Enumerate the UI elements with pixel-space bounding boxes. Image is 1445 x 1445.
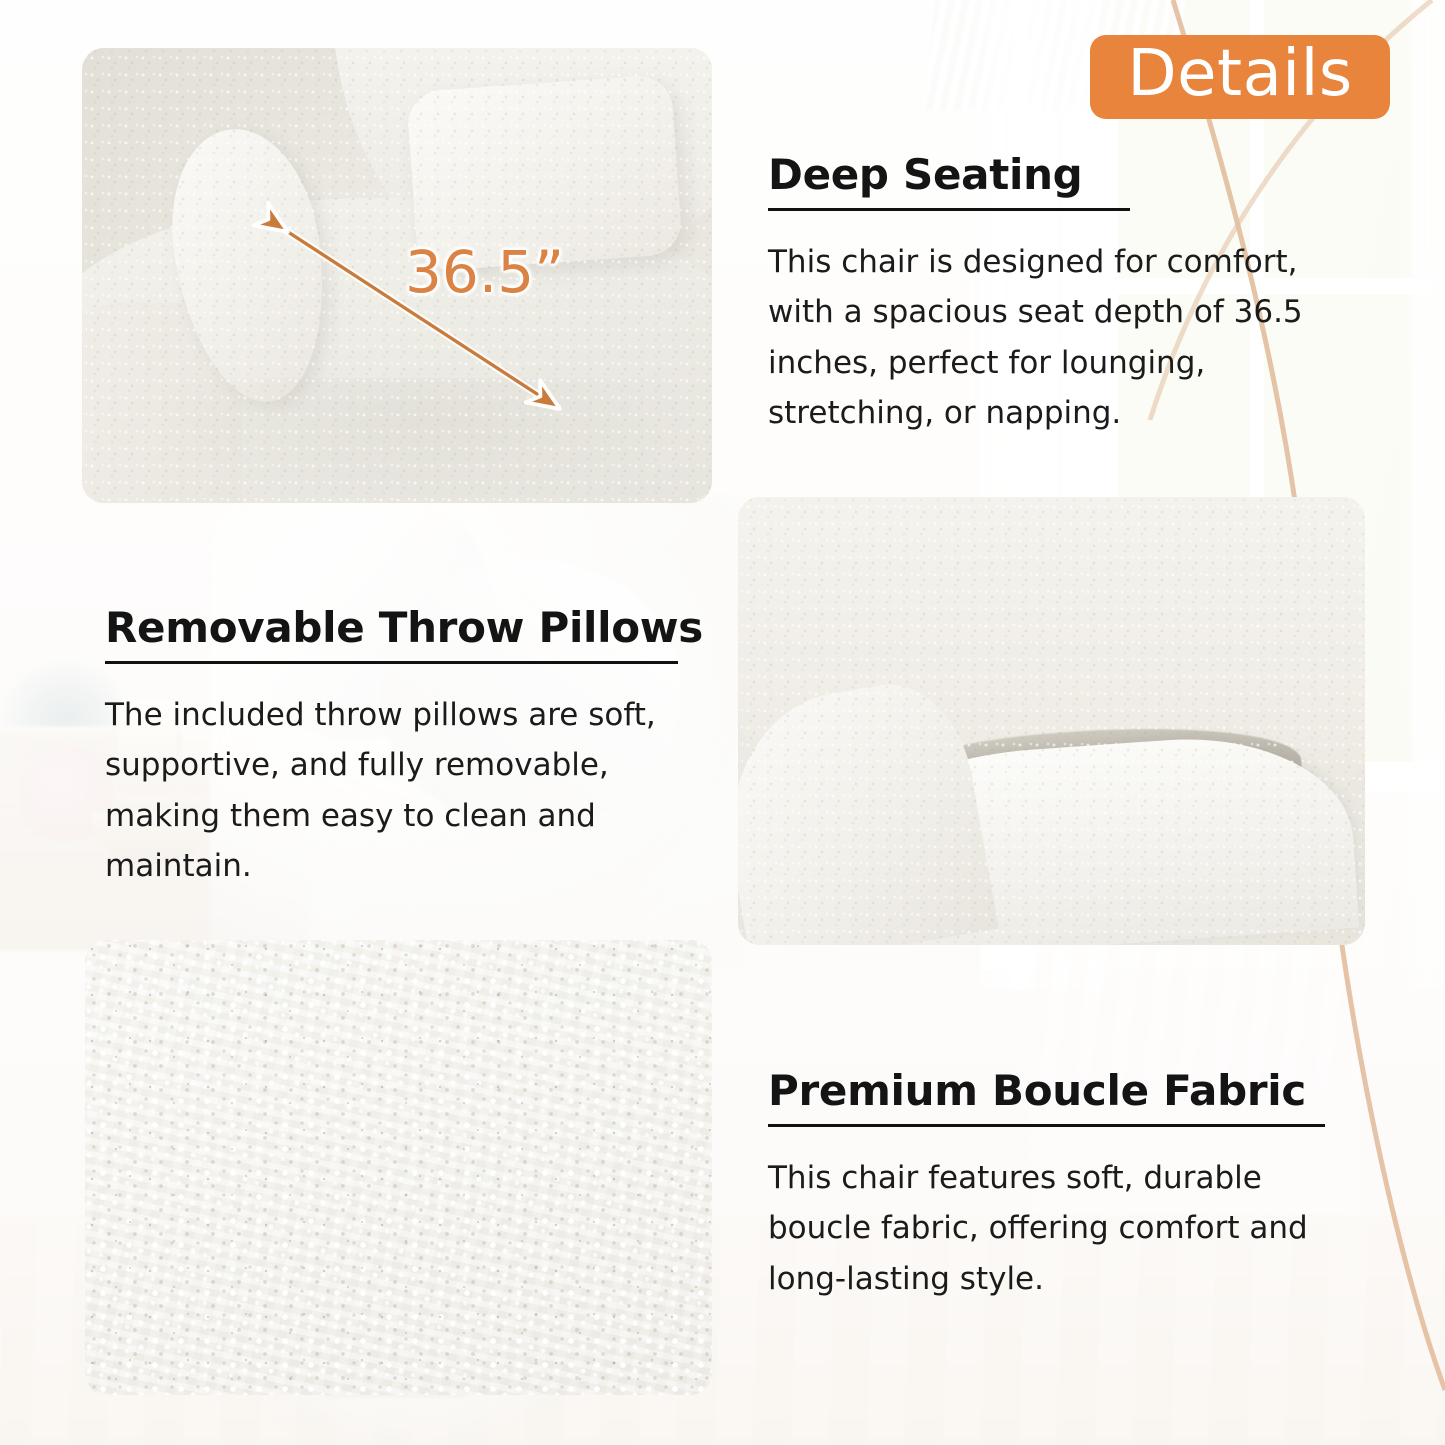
heading-rule: [768, 208, 1130, 211]
feature-heading-deep-seating: Deep Seating: [768, 152, 1368, 198]
zipper-photo: [738, 497, 1365, 945]
feature-premium-boucle-fabric: Premium Boucle Fabric This chair feature…: [768, 1068, 1343, 1304]
feature-heading-removable-throw-pillows: Removable Throw Pillows: [105, 605, 685, 651]
details-badge: Details: [1090, 35, 1390, 119]
feature-body-premium-boucle-fabric: This chair features soft, durable boucle…: [768, 1153, 1328, 1304]
feature-heading-premium-boucle-fabric: Premium Boucle Fabric: [768, 1068, 1343, 1114]
details-infographic-page: Details 36.5”: [0, 0, 1445, 1445]
details-badge-label: Details: [1127, 42, 1352, 106]
seat-depth-dimension-label: 36.5”: [405, 243, 564, 301]
feature-removable-throw-pillows: Removable Throw Pillows The included thr…: [105, 605, 685, 891]
feature-body-deep-seating: This chair is designed for comfort, with…: [768, 237, 1368, 438]
fabric-speckle-detail: [85, 940, 712, 1395]
heading-rule: [105, 661, 678, 664]
feature-body-removable-throw-pillows: The included throw pillows are soft, sup…: [105, 690, 675, 891]
heading-rule: [768, 1124, 1325, 1127]
feature-deep-seating: Deep Seating This chair is designed for …: [768, 152, 1368, 438]
seat-shadow: [142, 378, 702, 503]
fabric-swatch-photo: [85, 940, 712, 1395]
seat-depth-photo: [82, 48, 712, 503]
